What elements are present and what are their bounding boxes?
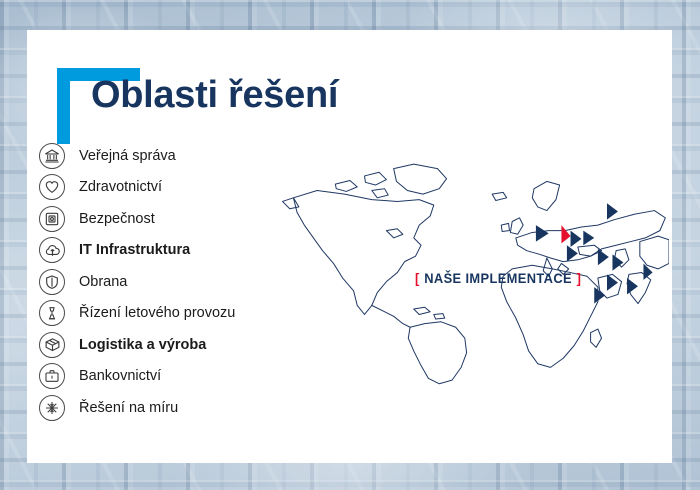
list-item[interactable]: Veřejná správa <box>39 140 309 172</box>
list-item-label: IT Infrastruktura <box>79 242 190 258</box>
page-title: Oblasti řešení <box>91 76 338 114</box>
title-block: Oblasti řešení <box>43 48 463 140</box>
world-map <box>277 148 669 388</box>
map-marker <box>627 278 638 294</box>
package-icon <box>39 332 65 358</box>
caption-text: NAŠE IMPLEMENTACE <box>424 270 572 286</box>
list-item-label: Logistika a výroba <box>79 337 206 353</box>
map-marker <box>567 245 578 261</box>
map-marker <box>612 254 623 270</box>
briefcase-icon <box>39 363 65 389</box>
content-card: Oblasti řešení Veřejná správa <box>27 30 672 463</box>
bank-icon <box>39 143 65 169</box>
cloud-upload-icon <box>39 237 65 263</box>
list-item-label: Zdravotnictví <box>79 179 162 195</box>
list-item[interactable]: Bankovnictví <box>39 361 309 393</box>
list-item-label: Bankovnictví <box>79 368 161 384</box>
list-item-label: Bezpečnost <box>79 211 155 227</box>
map-marker <box>583 231 594 246</box>
list-item[interactable]: IT Infrastruktura <box>39 235 309 267</box>
list-item[interactable]: Bezpečnost <box>39 203 309 235</box>
map-caption: [NAŠE IMPLEMENTACE] <box>415 270 581 286</box>
shield-icon <box>39 269 65 295</box>
control-tower-icon <box>39 300 65 326</box>
list-item-label: Řízení letového provozu <box>79 305 235 321</box>
list-item[interactable]: Zdravotnictví <box>39 172 309 204</box>
list-item[interactable]: Logistika a výroba <box>39 329 309 361</box>
list-item-label: Veřejná správa <box>79 148 176 164</box>
caption-bracket-open: [ <box>415 270 420 286</box>
map-marker <box>536 225 549 241</box>
map-marker-highlight <box>561 225 570 243</box>
solutions-list: Veřejná správa Zdravotnictví <box>39 140 309 424</box>
list-item[interactable]: Řízení letového provozu <box>39 298 309 330</box>
list-item-label: Obrana <box>79 274 127 290</box>
list-item-label: Řešení na míru <box>79 400 178 416</box>
safe-icon <box>39 206 65 232</box>
slide-canvas: Oblasti řešení Veřejná správa <box>0 0 700 490</box>
map-marker <box>571 231 582 247</box>
map-marker <box>607 203 618 219</box>
heart-icon <box>39 174 65 200</box>
custom-gear-icon <box>39 395 65 421</box>
map-marker <box>598 249 609 265</box>
list-item[interactable]: Řešení na míru <box>39 392 309 424</box>
caption-bracket-close: ] <box>577 270 582 286</box>
list-item[interactable]: Obrana <box>39 266 309 298</box>
